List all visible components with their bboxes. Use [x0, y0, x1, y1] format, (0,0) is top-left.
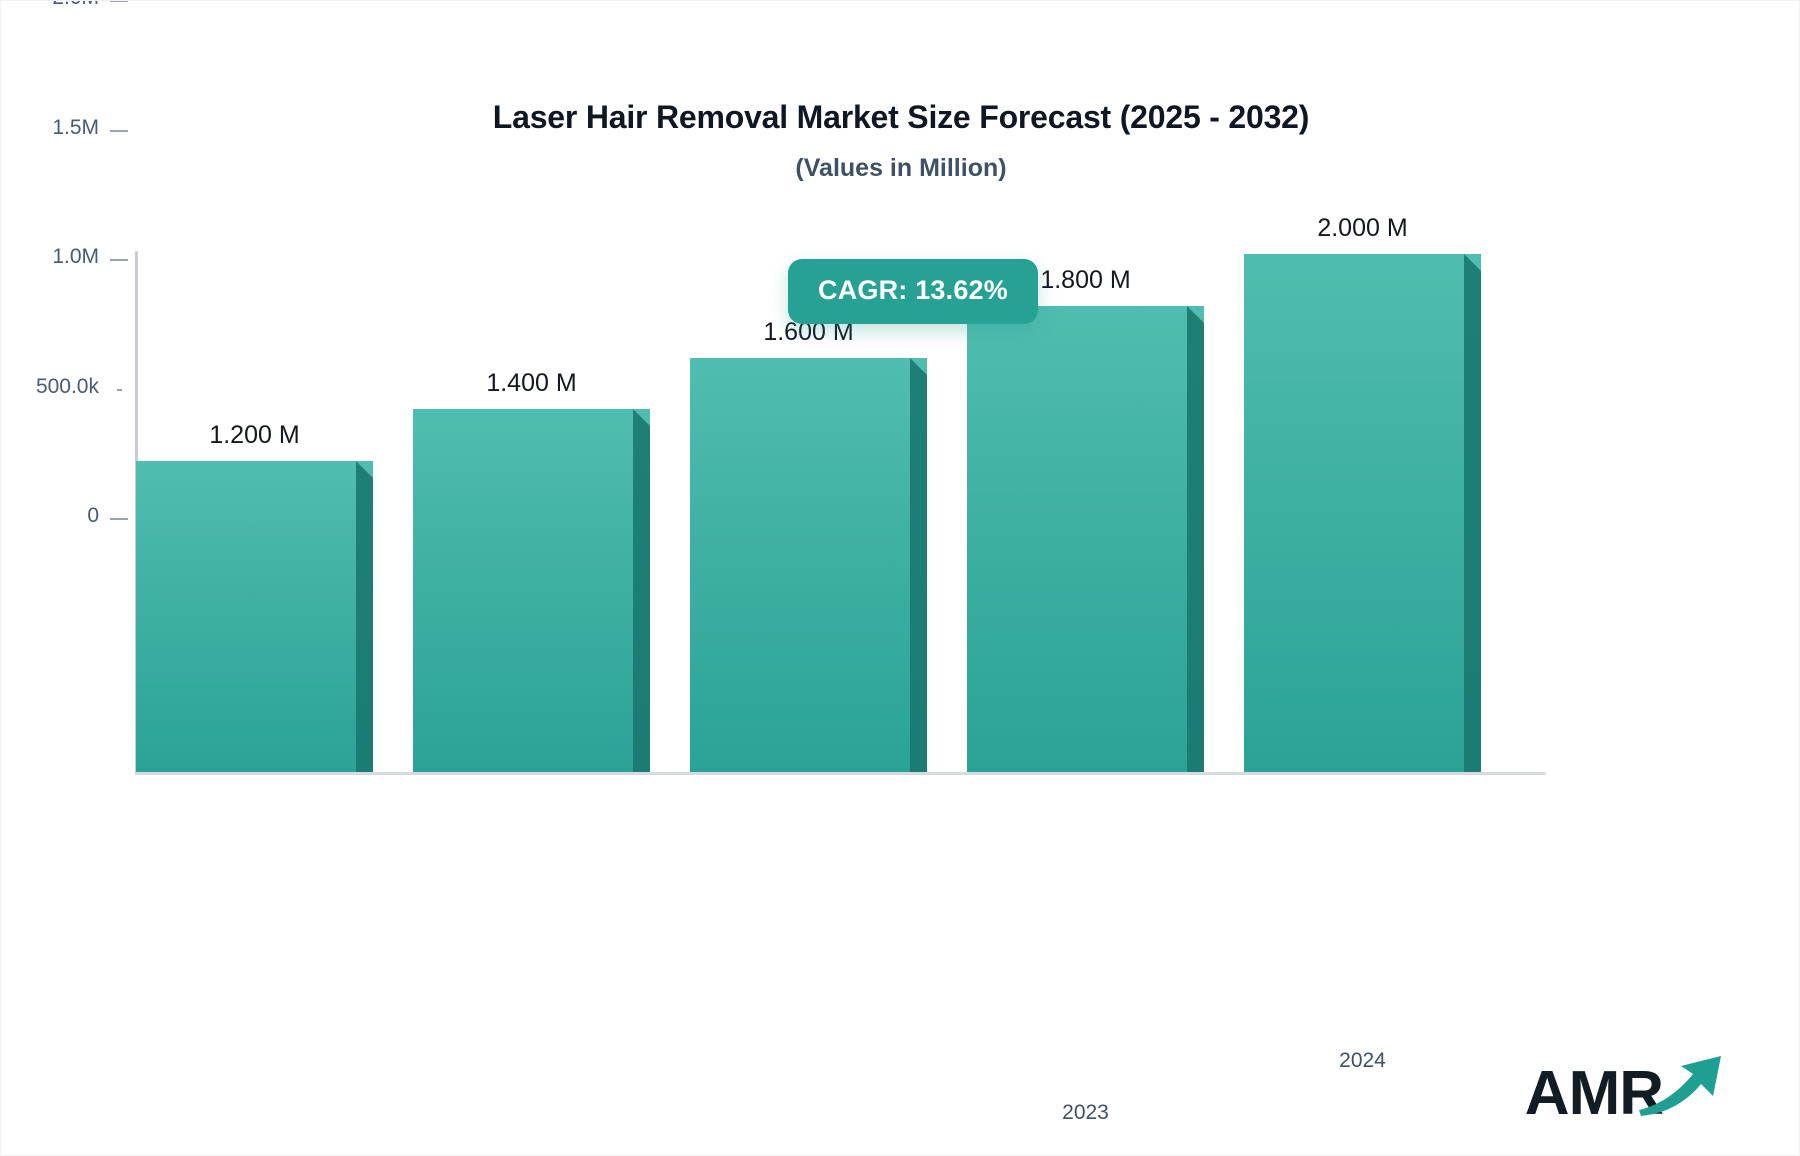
x-axis-line — [136, 772, 1546, 775]
bar-side-panel — [1187, 323, 1204, 772]
y-tick-mark — [117, 389, 122, 391]
chart-card: Laser Hair Removal Market Size Forecast … — [0, 0, 1800, 1156]
bar-value-label: 1.400 M — [413, 369, 650, 398]
bar-group-2024[interactable]: 2.000 M 2024 — [1244, 254, 1481, 772]
bar-side-panel — [633, 426, 650, 772]
y-tick-mark — [110, 259, 128, 261]
y-tick-label: 2.0M — [52, 0, 99, 10]
growth-arrow-icon — [1637, 1050, 1727, 1121]
y-tick-label: 1.0M — [52, 245, 99, 269]
bar-face — [1244, 254, 1481, 772]
y-tick-mark — [110, 0, 128, 2]
bar-group-2021[interactable]: 1.400 M 2021 — [413, 409, 650, 772]
x-tick-label-2023: 2023 — [967, 1101, 1204, 1125]
bar-face — [690, 358, 927, 772]
bar-face — [413, 409, 650, 772]
bar-side-panel — [356, 478, 373, 772]
y-tick-label: 500.0k — [36, 375, 99, 399]
plot-area: 1.200 M 2020 1.400 M 2021 1.600 M 2022 1… — [136, 254, 1546, 772]
cagr-badge: CAGR: 13.62% — [788, 259, 1038, 324]
bar-value-label: 1.200 M — [136, 421, 373, 450]
title-block: Laser Hair Removal Market Size Forecast … — [1, 97, 1800, 184]
x-tick-label-2024: 2024 — [1244, 1049, 1481, 1073]
bar-group-2022[interactable]: 1.600 M 2022 — [690, 358, 927, 772]
y-tick-mark — [110, 130, 128, 132]
bar-side-panel — [1464, 271, 1481, 772]
bar-face — [967, 306, 1204, 772]
y-tick-mark — [110, 518, 128, 520]
y-tick-label: 1.5M — [52, 116, 99, 140]
bar-value-label: 2.000 M — [1244, 214, 1481, 243]
bar-group-2020[interactable]: 1.200 M 2020 — [136, 461, 373, 772]
page-title: Laser Hair Removal Market Size Forecast … — [1, 97, 1800, 137]
y-tick-label: 0 — [87, 504, 99, 528]
amr-logo: AMR — [1525, 1035, 1727, 1125]
bar-group-2023[interactable]: 1.800 M 2023 — [967, 306, 1204, 772]
chart-subtitle: (Values in Million) — [1, 153, 1800, 184]
bar-side-panel — [910, 375, 927, 772]
bar-face — [136, 461, 373, 772]
